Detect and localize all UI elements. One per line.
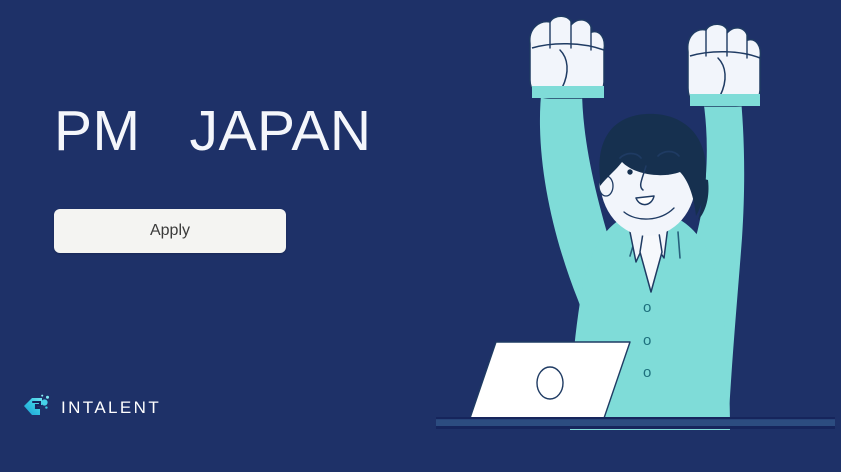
hero-left-panel: PM JAPAN Apply bbox=[0, 0, 430, 472]
page-title: PM JAPAN bbox=[54, 103, 372, 160]
intalent-logo-icon bbox=[20, 393, 52, 423]
right-eye bbox=[665, 169, 670, 174]
left-eye bbox=[627, 169, 632, 174]
apply-button[interactable]: Apply bbox=[54, 209, 286, 253]
brand-logo[interactable]: INTALENT bbox=[20, 393, 161, 423]
shirt-button-3: o bbox=[643, 364, 651, 381]
laptop-lid bbox=[468, 342, 630, 424]
desk-edge-bottom bbox=[436, 426, 835, 429]
brand-name-label: INTALENT bbox=[61, 398, 161, 418]
shirt-button-2: o bbox=[643, 332, 651, 349]
landing-page: PM JAPAN Apply bbox=[0, 0, 841, 472]
celebrating-businessman-illustration: o o o bbox=[430, 0, 841, 472]
desk-edge-top bbox=[436, 417, 835, 419]
shirt-button-1: o bbox=[643, 299, 651, 316]
apply-button-label: Apply bbox=[150, 222, 190, 240]
